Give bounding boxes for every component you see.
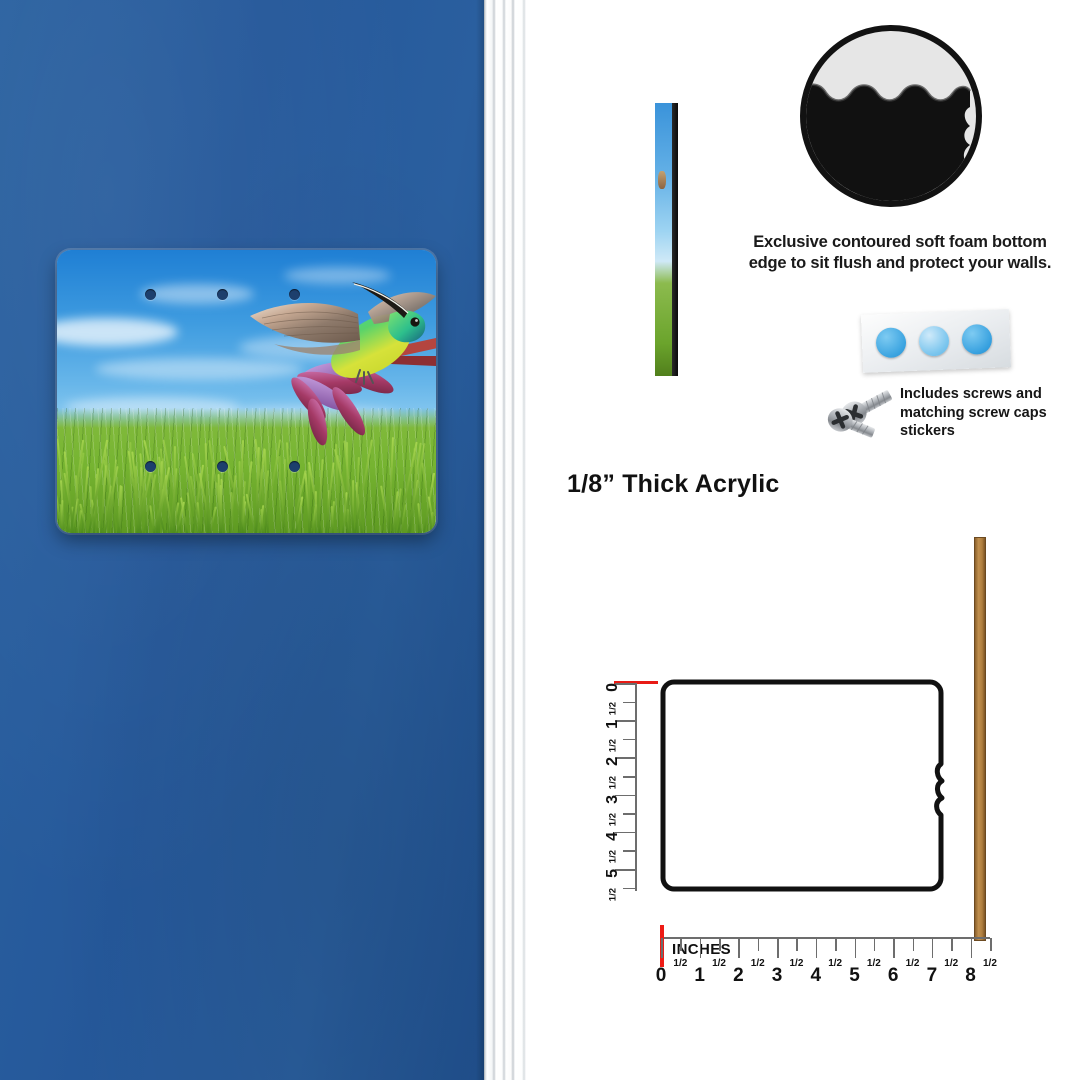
product-listing-image: Exclusive contoured soft foam bottom edg… bbox=[0, 0, 1080, 1080]
acrylic-edge-view bbox=[655, 103, 681, 376]
screw-cap-sticker bbox=[875, 327, 906, 358]
vertical-ruler-spine bbox=[635, 683, 637, 891]
ruler-tick bbox=[777, 938, 779, 958]
white-fluted-door-trim bbox=[484, 0, 546, 1080]
ruler-label: 8 bbox=[965, 965, 976, 987]
ruler-tick bbox=[623, 888, 637, 890]
mounting-hole bbox=[217, 289, 228, 300]
ruler-label: 3 bbox=[604, 795, 622, 804]
ruler-label: 5 bbox=[604, 869, 622, 878]
ruler-label: 0 bbox=[604, 683, 622, 692]
acrylic-edge-dark-side bbox=[672, 103, 678, 376]
grass-blade bbox=[139, 467, 142, 533]
acrylic-edge-bird-detail bbox=[658, 171, 666, 189]
screws-caption: Includes screws and matching screw caps … bbox=[900, 385, 1060, 441]
height-reference-bar bbox=[974, 537, 986, 941]
ruler-label: 1/2 bbox=[751, 958, 765, 969]
ruler-tick bbox=[758, 938, 760, 951]
ruler-label: 1/2 bbox=[608, 813, 619, 826]
ruler-label: 4 bbox=[604, 832, 622, 841]
product-size-outline bbox=[660, 678, 952, 893]
ruler-tick bbox=[623, 776, 637, 778]
ruler-tick bbox=[835, 938, 837, 951]
ruler-tick bbox=[623, 813, 637, 815]
ruler-label: 1/2 bbox=[906, 958, 920, 969]
ruler-tick bbox=[623, 739, 637, 741]
screw-cap-sticker bbox=[918, 326, 949, 357]
foam-edge-caption: Exclusive contoured soft foam bottom edg… bbox=[740, 232, 1060, 275]
ruler-tick bbox=[874, 938, 876, 951]
ruler-label: 2 bbox=[733, 965, 744, 987]
vertical-ruler: 01/211/221/231/241/251/2 bbox=[592, 673, 637, 898]
ruler-label: 1/2 bbox=[608, 739, 619, 752]
ruler-label: 4 bbox=[811, 965, 822, 987]
ruler-tick bbox=[855, 938, 857, 958]
ruler-tick bbox=[990, 938, 992, 951]
ruler-tick bbox=[623, 850, 637, 852]
ruler-label: 2 bbox=[604, 757, 622, 766]
ruler-tick bbox=[932, 938, 934, 958]
ruler-label: 1/2 bbox=[673, 958, 687, 969]
ruler-tick bbox=[661, 938, 663, 958]
mounting-hole bbox=[289, 289, 300, 300]
hummingbird-acrylic-panel[interactable] bbox=[57, 250, 436, 533]
ruler-tick bbox=[816, 938, 818, 958]
horizontal-ruler: INCHES 01/211/221/231/241/251/261/271/28… bbox=[655, 925, 995, 995]
ruler-label: 1/2 bbox=[712, 958, 726, 969]
ruler-label: 1 bbox=[604, 720, 622, 729]
thickness-label: 1/8” Thick Acrylic bbox=[567, 470, 780, 499]
screws-illustration bbox=[822, 388, 900, 446]
acrylic-edge-print-face bbox=[655, 103, 672, 376]
hummingbird-artwork bbox=[240, 252, 436, 467]
ruler-tick bbox=[971, 938, 973, 958]
ruler-label: 7 bbox=[927, 965, 938, 987]
cloud-icon bbox=[57, 318, 178, 346]
mounting-hole bbox=[145, 289, 156, 300]
ruler-label: 5 bbox=[849, 965, 860, 987]
foam-edge-magnifier bbox=[800, 25, 982, 207]
grass-blade bbox=[219, 485, 221, 533]
ruler-label: 1/2 bbox=[608, 776, 619, 789]
ruler-tick bbox=[680, 938, 682, 951]
ruler-tick bbox=[700, 938, 702, 958]
ruler-label: 1/2 bbox=[789, 958, 803, 969]
screw-cap-sticker bbox=[961, 324, 992, 355]
ruler-tick bbox=[951, 938, 953, 951]
screw-cap-sticker-sheet bbox=[861, 309, 1011, 373]
ruler-tick bbox=[719, 938, 721, 951]
ruler-tick bbox=[893, 938, 895, 958]
ruler-tick bbox=[796, 938, 798, 951]
ruler-label: 1/2 bbox=[608, 850, 619, 863]
ruler-tick bbox=[738, 938, 740, 958]
ruler-label: 1/2 bbox=[828, 958, 842, 969]
ruler-label: 1 bbox=[694, 965, 705, 987]
ruler-tick bbox=[913, 938, 915, 951]
ruler-label: 1/2 bbox=[608, 888, 619, 901]
ruler-label: 0 bbox=[656, 965, 667, 987]
grass-blade bbox=[315, 491, 317, 533]
ruler-label: 3 bbox=[772, 965, 783, 987]
ruler-tick bbox=[623, 702, 637, 704]
horizontal-ruler-baseline bbox=[660, 937, 990, 939]
cloud-icon bbox=[140, 284, 254, 304]
ruler-label: 1/2 bbox=[944, 958, 958, 969]
ruler-label: 1/2 bbox=[867, 958, 881, 969]
ruler-label: 1/2 bbox=[608, 702, 619, 715]
blue-wall-background bbox=[0, 0, 484, 1080]
ruler-label: 6 bbox=[888, 965, 899, 987]
ruler-label: 1/2 bbox=[983, 958, 997, 969]
